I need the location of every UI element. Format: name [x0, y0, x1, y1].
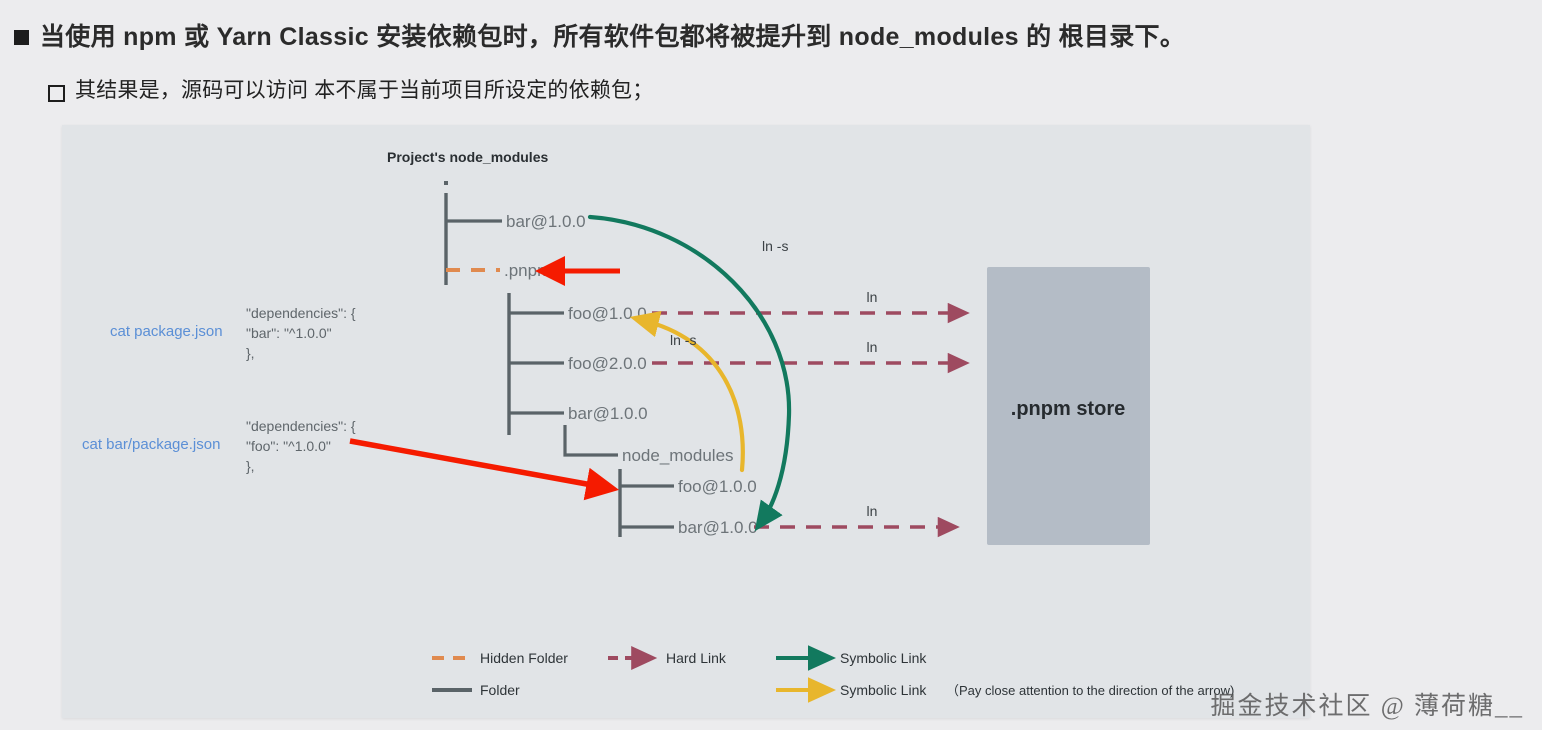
- tree-node-bar-2: bar@1.0.0: [568, 404, 648, 423]
- legend-label-symbolic-link-yellow: Symbolic Link: [840, 682, 927, 698]
- legend-item-hard-link: Hard Link: [608, 650, 727, 666]
- tree-node-foo-3: foo@1.0.0: [678, 477, 757, 496]
- hard-link-label-2: ln: [867, 339, 878, 355]
- hard-link-label-3: ln: [867, 503, 878, 519]
- symbolic-link-label-yellow: ln -s: [670, 332, 696, 348]
- annotation-json-0-line-2: },: [246, 345, 255, 361]
- diagram-title: Project's node_modules: [387, 149, 548, 165]
- legend-item-folder: Folder: [432, 682, 520, 698]
- filled-square-marker-icon: [14, 30, 29, 45]
- annotation-json-0-line-1: "bar": "^1.0.0": [246, 325, 332, 341]
- tree-root-dot-icon: [444, 181, 448, 185]
- legend-item-hidden-folder: Hidden Folder: [432, 650, 568, 666]
- tree-node-foo-2: foo@2.0.0: [568, 354, 647, 373]
- legend-label-hard-link: Hard Link: [666, 650, 727, 666]
- annotation-json-0-line-0: "dependencies": {: [246, 305, 356, 321]
- annotation-command-1: cat bar/package.json: [82, 436, 220, 453]
- highlight-arrow-foo-icon: [350, 441, 592, 485]
- legend-label-symbolic-link: Symbolic Link: [840, 650, 927, 666]
- annotation-json-1-line-1: "foo": "^1.0.0": [246, 438, 331, 454]
- tree-node-pnpm: .pnpm: [504, 261, 551, 280]
- legend-label-hidden-folder: Hidden Folder: [480, 650, 568, 666]
- diagram-panel: Project's node_modules bar@1.0.0 .pnpm f…: [62, 125, 1310, 718]
- legend-note-symbolic-link-yellow: （Pay close attention to the direction of…: [946, 683, 1234, 698]
- legend-item-symbolic-link-yellow: Symbolic Link （Pay close attention to th…: [776, 682, 1234, 698]
- annotation-command-0: cat package.json: [110, 323, 223, 340]
- bullet-level-2-text: 其结果是，源码可以访问 本不属于当前项目所设定的依赖包；: [75, 78, 653, 104]
- pnpm-structure-diagram: Project's node_modules bar@1.0.0 .pnpm f…: [62, 125, 1310, 718]
- tree-node-bar-1: bar@1.0.0: [506, 212, 586, 231]
- annotation-json-1-line-2: },: [246, 458, 255, 474]
- legend-label-folder: Folder: [480, 682, 520, 698]
- symbolic-link-label-green: ln -s: [762, 238, 788, 254]
- pnpm-store-label: .pnpm store: [1011, 398, 1125, 420]
- tree-node-foo-1: foo@1.0.0: [568, 304, 647, 323]
- tree-node-node-modules: node_modules: [622, 446, 734, 465]
- legend-item-symbolic-link: Symbolic Link: [776, 650, 927, 666]
- annotation-json-1-line-0: "dependencies": {: [246, 418, 356, 434]
- hollow-square-marker-icon: [48, 85, 65, 102]
- bullet-level-1-text: 当使用 npm 或 Yarn Classic 安装依赖包时，所有软件包都将被提升…: [40, 22, 1185, 53]
- tree-connector-node-modules: [565, 425, 618, 455]
- tree-node-bar-3: bar@1.0.0: [678, 518, 758, 537]
- bullet-level-1: 当使用 npm 或 Yarn Classic 安装依赖包时，所有软件包都将被提升…: [14, 22, 1185, 53]
- bullet-level-2: 其结果是，源码可以访问 本不属于当前项目所设定的依赖包；: [48, 78, 653, 104]
- hard-link-label-1: ln: [867, 289, 878, 305]
